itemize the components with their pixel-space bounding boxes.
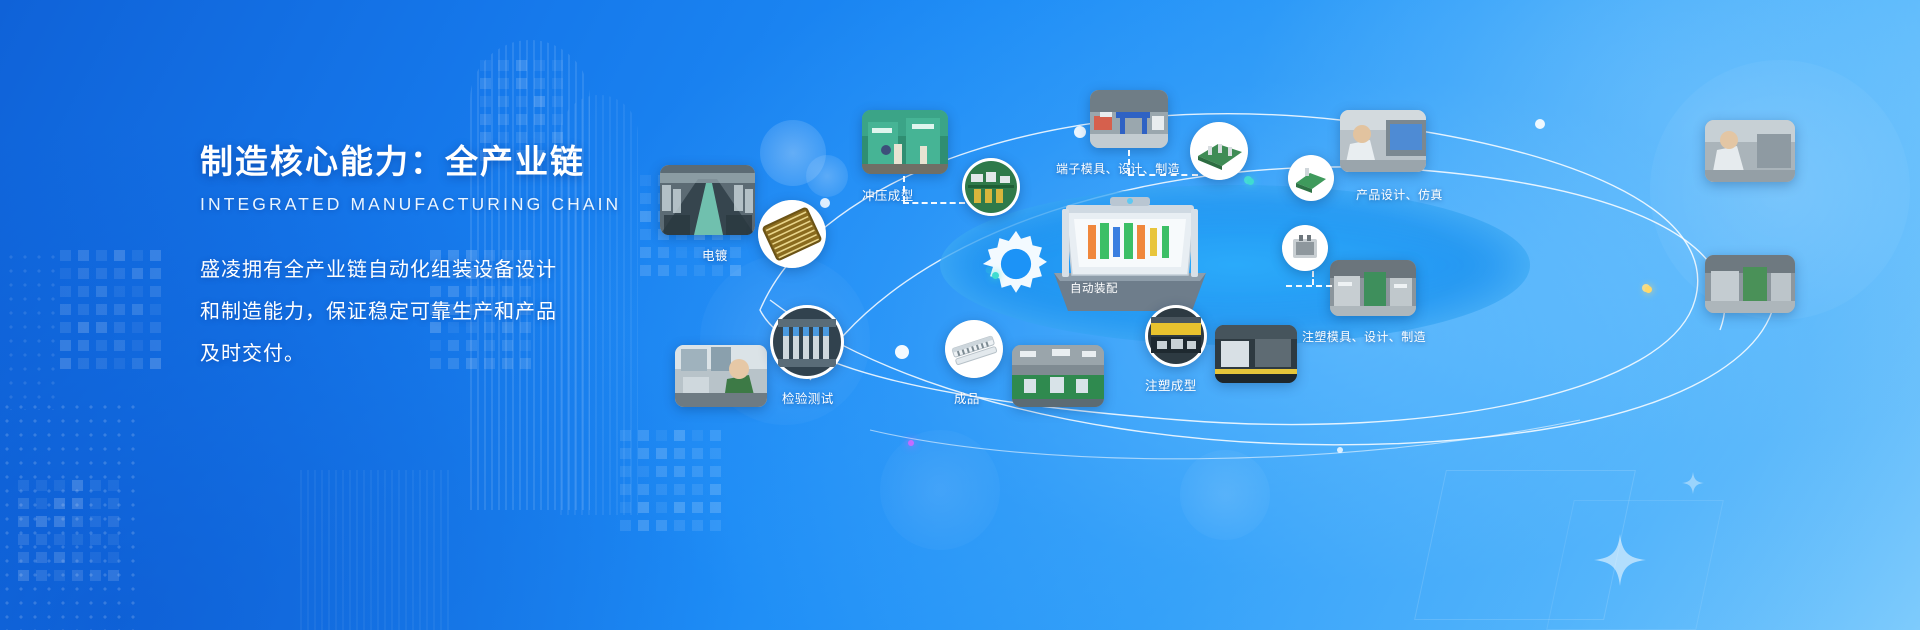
node-thumb-machine-dark[interactable] bbox=[1215, 325, 1297, 383]
accent-dot-3 bbox=[1645, 286, 1652, 293]
node-thumb-injection-molding[interactable] bbox=[1145, 305, 1207, 367]
node-thumb-injection-mold[interactable] bbox=[1330, 260, 1416, 316]
node-thumb-pcb-module[interactable] bbox=[962, 158, 1020, 216]
node-thumb-electroplating[interactable] bbox=[660, 165, 755, 235]
assembly-machine-illustration bbox=[1040, 195, 1220, 320]
square-matrix-a bbox=[60, 250, 180, 380]
square-matrix-e bbox=[18, 480, 128, 600]
page-title: 制造核心能力：全产业链 bbox=[200, 142, 620, 182]
page-subtitle: INTEGRATED MANUFACTURING CHAIN bbox=[200, 194, 620, 215]
accent-dot-4 bbox=[908, 440, 914, 446]
node-label-product-design: 产品设计、仿真 bbox=[1356, 186, 1443, 203]
node-thumb-terminal-mold[interactable] bbox=[1090, 90, 1168, 148]
node-thumb-inspection[interactable] bbox=[675, 345, 767, 407]
node-thumb-factory-right-bottom[interactable] bbox=[1705, 255, 1795, 313]
node-label-injection-molding: 注塑成型 bbox=[1145, 375, 1197, 394]
banner-copy: 制造核心能力：全产业链 INTEGRATED MANUFACTURING CHA… bbox=[200, 142, 620, 375]
node-thumb-design-model[interactable] bbox=[1288, 155, 1334, 201]
node-thumb-mold-insert[interactable] bbox=[1282, 225, 1328, 271]
node-thumb-factory-right-top[interactable] bbox=[1705, 120, 1795, 182]
node-label-electroplating: 电镀 bbox=[702, 245, 728, 264]
connector-injmold-horizontal bbox=[1286, 285, 1332, 287]
node-thumb-product-design[interactable] bbox=[1340, 110, 1426, 172]
node-thumb-test-fixture[interactable] bbox=[770, 305, 844, 379]
node-thumb-mold-base[interactable] bbox=[1190, 122, 1248, 180]
connector-stamping-horizontal bbox=[903, 202, 965, 204]
stripe-tower-right bbox=[300, 470, 450, 630]
center-label: 自动装配 bbox=[1070, 280, 1118, 296]
manufacturing-chain-diagram: 自动装配 电镀 bbox=[640, 0, 1920, 630]
node-thumb-stamping[interactable] bbox=[862, 110, 948, 174]
dot-matrix-farleft bbox=[0, 250, 60, 410]
node-label-finished-product: 成品 bbox=[954, 388, 980, 407]
node-label-inspection: 检验测试 bbox=[782, 388, 834, 407]
connector-stamping-vertical bbox=[903, 176, 905, 202]
node-thumb-finished-product[interactable] bbox=[945, 320, 1003, 378]
connector-terminal-horizontal bbox=[1128, 174, 1198, 176]
banner-background: 制造核心能力：全产业链 INTEGRATED MANUFACTURING CHA… bbox=[0, 0, 1920, 630]
accent-dot-1 bbox=[992, 272, 999, 279]
banner-description: 盛凌拥有全产业链自动化组装设备设计和制造能力，保证稳定可靠生产和产品及时交付。 bbox=[200, 249, 560, 375]
node-thumb-plating-barrel[interactable] bbox=[758, 200, 826, 268]
connector-terminal-vertical bbox=[1128, 150, 1130, 174]
accent-dot-2 bbox=[1247, 178, 1254, 185]
node-label-injection-mold: 注塑模具、设计、制造 bbox=[1302, 328, 1426, 345]
node-thumb-assembly-line[interactable] bbox=[1012, 345, 1104, 407]
